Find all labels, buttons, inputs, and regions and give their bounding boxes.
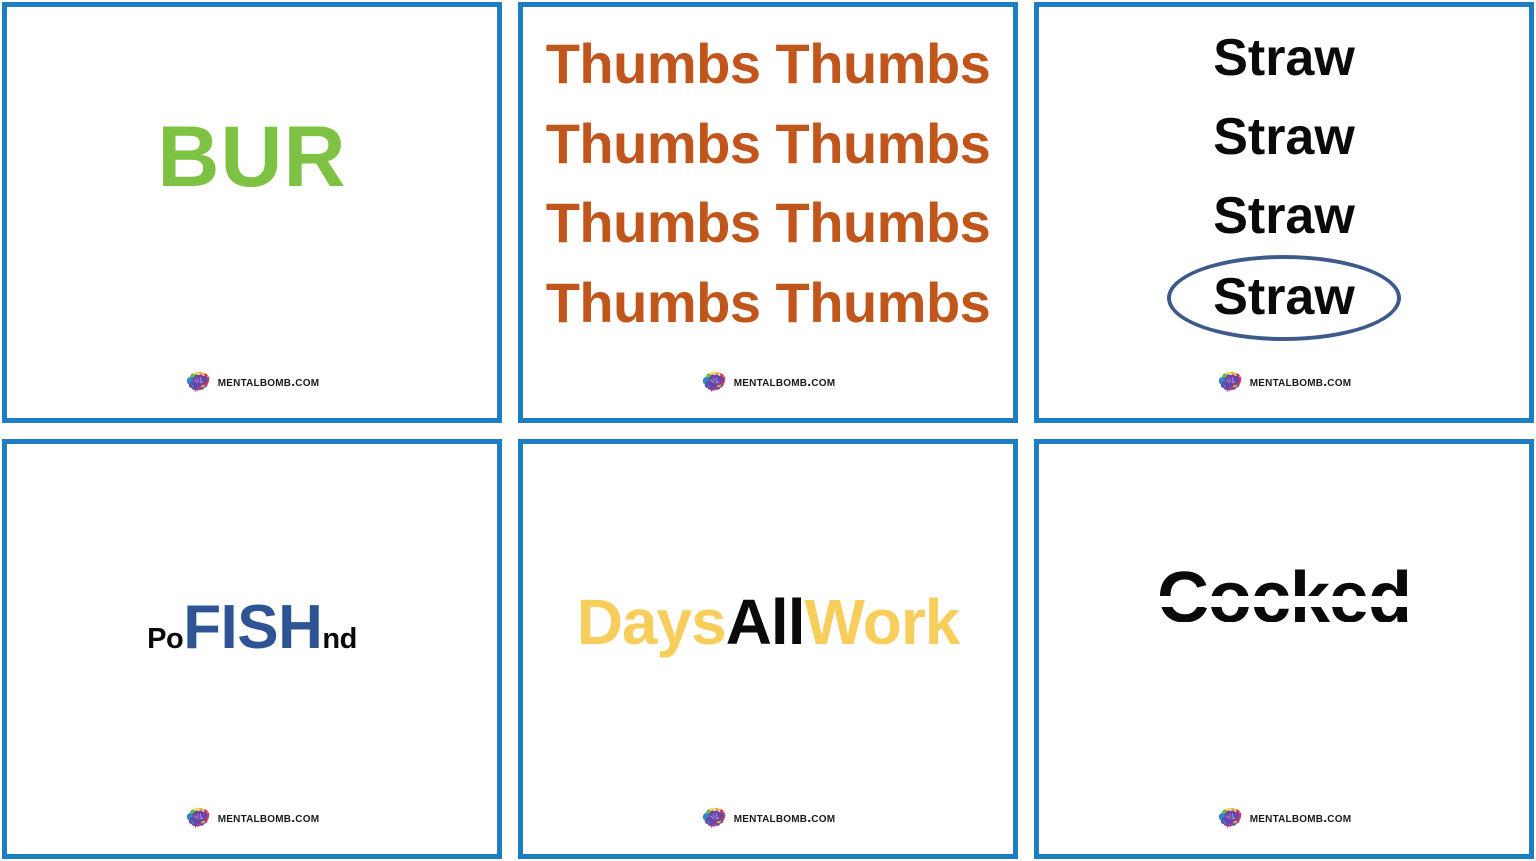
puzzle-stage: Thumbs Thumbs Thumbs Thumbs Thumbs Thumb… bbox=[523, 7, 1013, 370]
puzzle-card-straw[interactable]: Straw Straw Straw Straw bbox=[1034, 2, 1534, 423]
brain-icon bbox=[185, 806, 211, 828]
puzzle-word-bur: BUR bbox=[157, 114, 346, 200]
puzzle-card-daysallwork[interactable]: Days All Work MentalB bbox=[518, 439, 1018, 860]
brand-name: MentalBomb.com bbox=[1250, 809, 1352, 825]
fish-part-suffix: nd bbox=[322, 623, 356, 656]
thumbs-row: Thumbs Thumbs bbox=[546, 183, 991, 263]
puzzle-stage: Cocked bbox=[1039, 444, 1529, 807]
thumbs-row: Thumbs Thumbs bbox=[546, 263, 991, 343]
daw-part-all: All bbox=[726, 585, 805, 659]
thumbs-row: Thumbs Thumbs bbox=[546, 104, 991, 184]
brand-name: MentalBomb.com bbox=[218, 809, 320, 825]
straw-row-circled: Straw bbox=[1167, 256, 1401, 339]
brand-footer: MentalBomb.com bbox=[185, 806, 320, 828]
thumbs-row: Thumbs Thumbs bbox=[546, 24, 991, 104]
puzzle-card-thumbs[interactable]: Thumbs Thumbs Thumbs Thumbs Thumbs Thumb… bbox=[518, 2, 1018, 423]
brain-icon bbox=[1217, 370, 1243, 392]
straw-row: Straw bbox=[1213, 177, 1355, 256]
brand-footer: MentalBomb.com bbox=[1217, 370, 1352, 392]
puzzle-card-fish[interactable]: Po FISH nd MentalBomb bbox=[2, 439, 502, 860]
puzzle-stage: BUR bbox=[7, 7, 497, 370]
brand-name: MentalBomb.com bbox=[734, 373, 836, 389]
brand-footer: MentalBomb.com bbox=[1217, 806, 1352, 828]
puzzle-stage: Po FISH nd bbox=[7, 444, 497, 807]
brand-footer: MentalBomb.com bbox=[701, 806, 836, 828]
fish-part-core: FISH bbox=[183, 592, 322, 663]
daw-part-days: Days bbox=[577, 585, 726, 659]
puzzle-grid: BUR MentalBomb.com bbox=[0, 0, 1536, 861]
straw-row: Straw bbox=[1213, 19, 1355, 98]
brain-icon bbox=[701, 370, 727, 392]
brand-footer: MentalBomb.com bbox=[701, 370, 836, 392]
straw-row: Straw bbox=[1213, 98, 1355, 177]
puzzle-card-cocked[interactable]: Cocked MentalBomb.c bbox=[1034, 439, 1534, 860]
cocked-word: Cocked bbox=[1157, 562, 1411, 634]
brain-icon bbox=[701, 806, 727, 828]
brand-name: MentalBomb.com bbox=[1250, 373, 1352, 389]
brain-icon bbox=[1217, 806, 1243, 828]
brand-name: MentalBomb.com bbox=[734, 809, 836, 825]
straw-rows: Straw Straw Straw Straw bbox=[1167, 19, 1401, 339]
puzzle-stage: Straw Straw Straw Straw bbox=[1039, 7, 1529, 370]
brain-icon bbox=[185, 370, 211, 392]
brand-footer: MentalBomb.com bbox=[185, 370, 320, 392]
daysallwork-word: Days All Work bbox=[577, 585, 960, 659]
fish-word: Po FISH nd bbox=[147, 592, 357, 663]
straw-row-label: Straw bbox=[1213, 268, 1355, 326]
brand-name: MentalBomb.com bbox=[218, 373, 320, 389]
fish-part-prefix: Po bbox=[147, 623, 183, 656]
puzzle-card-bur[interactable]: BUR MentalBomb.com bbox=[2, 2, 502, 423]
thumbs-rows: Thumbs Thumbs Thumbs Thumbs Thumbs Thumb… bbox=[546, 24, 991, 342]
cocked-word-clipped: Cocked bbox=[1157, 562, 1411, 636]
daw-part-work: Work bbox=[804, 585, 959, 659]
puzzle-stage: Days All Work bbox=[523, 444, 1013, 807]
